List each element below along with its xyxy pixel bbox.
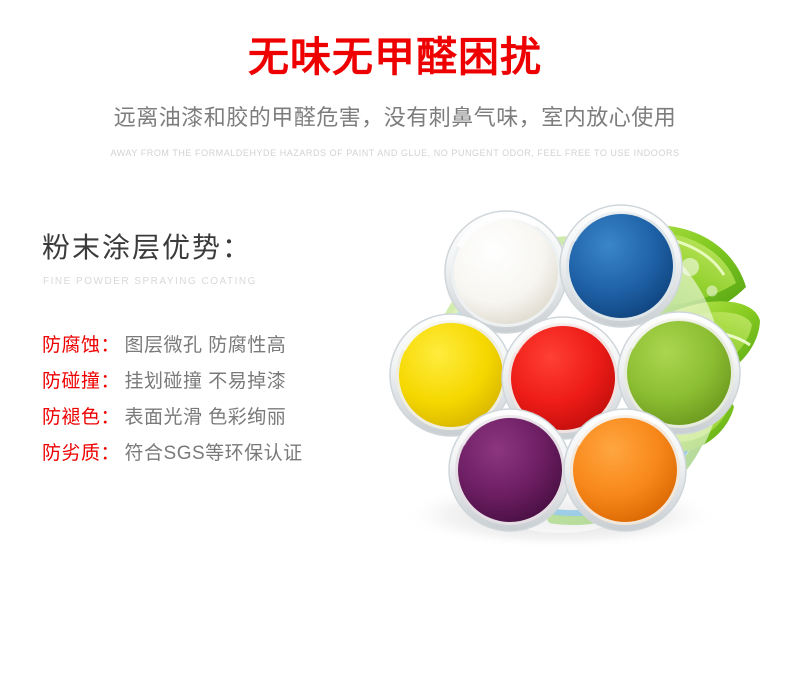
feature-colon: ： xyxy=(101,366,125,393)
list-item: 防劣质 ： 符合SGS等环保认证 xyxy=(42,438,303,474)
advantages-heading: 粉末涂层优势： xyxy=(42,226,252,266)
feature-label: 防褪色 xyxy=(42,402,101,429)
water-droplet-icon xyxy=(707,286,718,297)
page-subtitle: 远离油漆和胶的甲醛危害，没有刺鼻气味，室内放心使用 xyxy=(0,105,790,131)
list-item: 防腐蚀 ： 图层微孔 防腐性高 xyxy=(42,330,303,366)
orange-powder-jar xyxy=(564,409,686,531)
powder-jars-illustration xyxy=(330,175,790,555)
feature-colon: ： xyxy=(101,330,125,357)
feature-label: 防劣质 xyxy=(42,438,101,465)
list-item: 防碰撞 ： 挂划碰撞 不易掉漆 xyxy=(42,366,303,402)
feature-description: 符合SGS等环保认证 xyxy=(125,438,303,465)
feature-description: 挂划碰撞 不易掉漆 xyxy=(125,366,287,393)
purple-powder-jar xyxy=(449,409,571,531)
feature-description: 表面光滑 色彩绚丽 xyxy=(125,402,287,429)
list-item: 防褪色 ： 表面光滑 色彩绚丽 xyxy=(42,402,303,438)
blue-powder-jar xyxy=(560,205,682,327)
feature-label: 防腐蚀 xyxy=(42,330,101,357)
feature-label: 防碰撞 xyxy=(42,366,101,393)
feature-colon: ： xyxy=(101,402,125,429)
advantages-heading-english: FINE POWDER SPRAYING COATING xyxy=(43,276,257,287)
advantages-list: 防腐蚀 ： 图层微孔 防腐性高 防碰撞 ： 挂划碰撞 不易掉漆 防褪色 ： 表面… xyxy=(42,330,303,474)
page-subtitle-english: AWAY FROM THE FORMALDEHYDE HAZARDS OF PA… xyxy=(0,148,790,159)
page-title: 无味无甲醛困扰 xyxy=(0,36,790,79)
feature-description: 图层微孔 防腐性高 xyxy=(125,330,287,357)
feature-colon: ： xyxy=(101,438,125,465)
promo-page: 无味无甲醛困扰 远离油漆和胶的甲醛危害，没有刺鼻气味，室内放心使用 AWAY F… xyxy=(0,0,790,673)
